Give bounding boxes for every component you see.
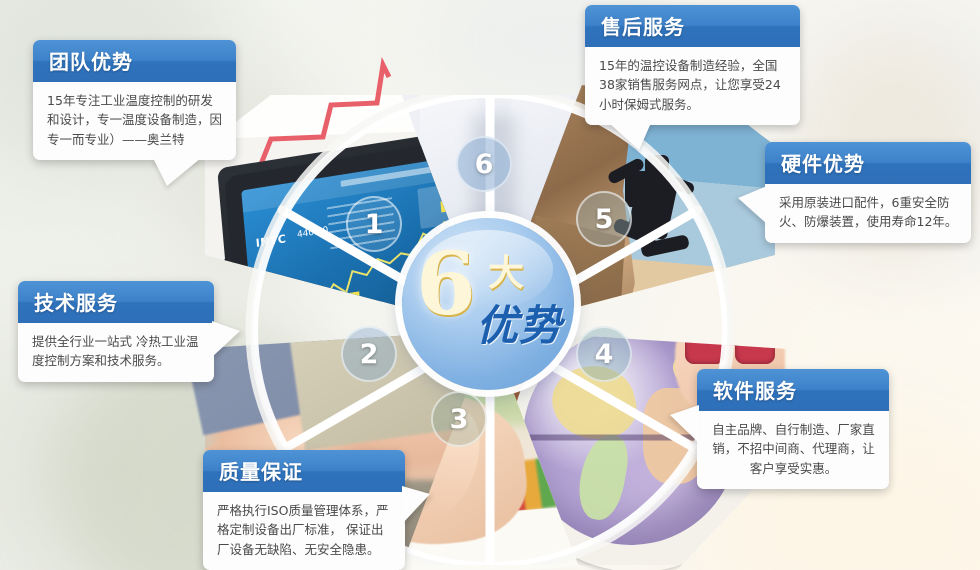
callout-title: 质量保证 (203, 450, 405, 492)
segment-number-1[interactable]: 1 (346, 196, 402, 252)
callout-title: 售后服务 (585, 5, 800, 47)
segment-number-2[interactable]: 2 (341, 326, 397, 382)
callout-tail (738, 186, 767, 224)
callout-title: 团队优势 (33, 40, 236, 82)
callout-tail (402, 486, 430, 524)
callout-tail (670, 405, 699, 443)
center-medallion: 6 大 优势 (402, 218, 574, 390)
callout-body: 采用原装进口配件，6重安全防火、防爆装置，使用寿命12年。 (765, 184, 971, 243)
callout-software-service[interactable]: 软件服务 自主品牌、自行制造、厂家直销，不招中间商、代理商，让客户享受实惠。 (697, 369, 889, 489)
segment-number-3[interactable]: 3 (431, 391, 487, 447)
callout-title: 硬件优势 (765, 142, 971, 184)
callout-body: 提供全行业一站式 冷热工业温度控制方案和技术服务。 (18, 323, 214, 382)
callout-quality-assurance[interactable]: 质量保证 严格执行ISO质量管理体系，严格定制设备出厂标准， 保证出厂设备无缺陷… (203, 450, 405, 570)
segment-number-6[interactable]: 6 (456, 136, 512, 192)
infographic-canvas: INTC 440.00 (0, 0, 980, 570)
callout-team-advantage[interactable]: 团队优势 15年专注工业温度控制的研发和设计，专一温度设备制造，因专一而专业）—… (33, 40, 236, 160)
segment-number-5[interactable]: 5 (576, 191, 632, 247)
callout-tail (153, 158, 201, 186)
callout-tail (212, 321, 240, 357)
callout-body: 自主品牌、自行制造、厂家直销，不招中间商、代理商，让客户享受实惠。 (697, 411, 889, 489)
callout-title: 技术服务 (18, 281, 214, 323)
medallion-big-char: 大 (488, 244, 524, 296)
callout-title: 软件服务 (697, 369, 889, 411)
callout-body: 严格执行ISO质量管理体系，严格定制设备出厂标准， 保证出厂设备无缺陷、无安全隐… (203, 492, 405, 570)
callout-tail (609, 123, 651, 150)
medallion-number: 6 (416, 242, 476, 328)
segment-number-4[interactable]: 4 (576, 326, 632, 382)
callout-technical-service[interactable]: 技术服务 提供全行业一站式 冷热工业温度控制方案和技术服务。 (18, 281, 214, 382)
callout-body: 15年的温控设备制造经验，全国38家销售服务网点，让您享受24小时保姆式服务。 (585, 47, 800, 125)
callout-hardware-advantage[interactable]: 硬件优势 采用原装进口配件，6重安全防火、防爆装置，使用寿命12年。 (765, 142, 971, 243)
callout-body: 15年专注工业温度控制的研发和设计，专一温度设备制造，因专一而专业）——奥兰特 (33, 82, 236, 160)
medallion-subtitle: 优势 (476, 292, 562, 353)
callout-after-sales-service[interactable]: 售后服务 15年的温控设备制造经验，全国38家销售服务网点，让您享受24小时保姆… (585, 5, 800, 125)
